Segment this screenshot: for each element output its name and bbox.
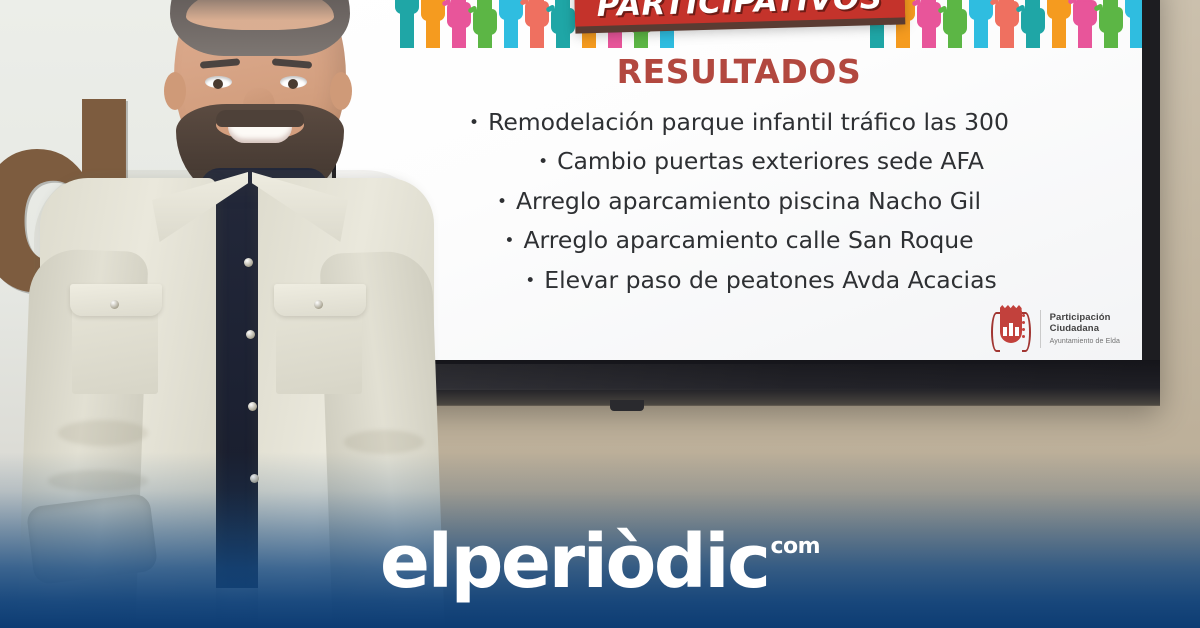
pupil-right	[288, 79, 298, 89]
ear-left	[164, 72, 186, 110]
raised-hand-icon	[916, 0, 942, 48]
raised-hand-icon	[1046, 0, 1072, 48]
slide-bullet-text: Arreglo aparcamiento calle San Roque	[523, 226, 973, 254]
raised-hand-icon	[1020, 0, 1046, 48]
snap-button	[110, 300, 119, 309]
raised-hand-icon	[472, 0, 498, 48]
slide-bullet-text: Elevar paso de peatones Avda Acacias	[544, 266, 996, 294]
snap-button	[314, 300, 323, 309]
raised-hand-icon	[968, 0, 994, 48]
logo-line1: Participación	[1050, 312, 1120, 323]
bullet-dot-icon: •	[469, 109, 479, 138]
raised-hands-group	[864, 0, 1142, 48]
elda-crest-icon	[991, 302, 1031, 356]
logo-subtitle: Ayuntamiento de Elda	[1050, 338, 1120, 346]
moustache	[216, 110, 304, 127]
tv-stand-foot	[610, 400, 644, 411]
raised-hand-icon	[1098, 0, 1124, 48]
watermark: elperiòdic com	[0, 528, 1200, 612]
bullet-dot-icon: •	[538, 148, 548, 177]
raised-hand-icon	[550, 0, 576, 48]
slide-bullet-text: Remodelación parque infantil tráfico las…	[488, 108, 1009, 136]
bullet-dot-icon: •	[497, 188, 507, 217]
snap-button	[246, 330, 255, 339]
hair	[170, 0, 350, 56]
watermark-tld: com	[771, 534, 821, 559]
snap-button	[244, 258, 253, 267]
slide-bullet-text: Cambio puertas exteriores sede AFA	[557, 147, 984, 175]
raised-hand-icon	[942, 0, 968, 48]
photo-canvas: d a PRESUPUESTOS PARTICIPATIVOS RESULTAD…	[0, 0, 1200, 628]
watermark-name: elperiòdic	[380, 528, 769, 596]
snap-button	[248, 402, 257, 411]
pupil-left	[213, 79, 223, 89]
elda-logo: Participación Ciudadana Ayuntamiento de …	[991, 302, 1120, 356]
raised-hand-icon	[498, 0, 524, 48]
ear-right	[330, 72, 352, 110]
logo-divider	[1040, 310, 1041, 348]
bullet-dot-icon: •	[525, 267, 535, 296]
bullet-dot-icon: •	[504, 227, 514, 256]
banner-line2: PARTICIPATIVOS	[596, 0, 883, 22]
slide-bullet-text: Arreglo aparcamiento piscina Nacho Gil	[516, 187, 981, 215]
raised-hand-icon	[1124, 0, 1142, 48]
logo-line2: Ciudadana	[1050, 323, 1120, 334]
